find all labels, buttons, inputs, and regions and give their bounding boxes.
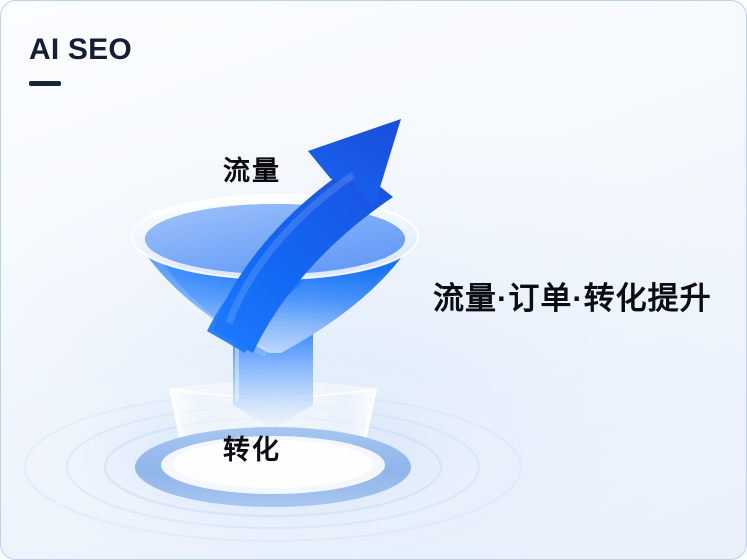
heading-block: AI SEO <box>29 33 132 86</box>
illustration-canvas: AI SEO <box>0 0 747 560</box>
label-traffic: 流量 <box>223 156 281 186</box>
accent-rule <box>29 81 61 86</box>
tagline: 流量·订单·转化提升 <box>433 279 712 319</box>
label-conversion: 转化 <box>223 435 281 465</box>
page-title: AI SEO <box>29 33 132 67</box>
